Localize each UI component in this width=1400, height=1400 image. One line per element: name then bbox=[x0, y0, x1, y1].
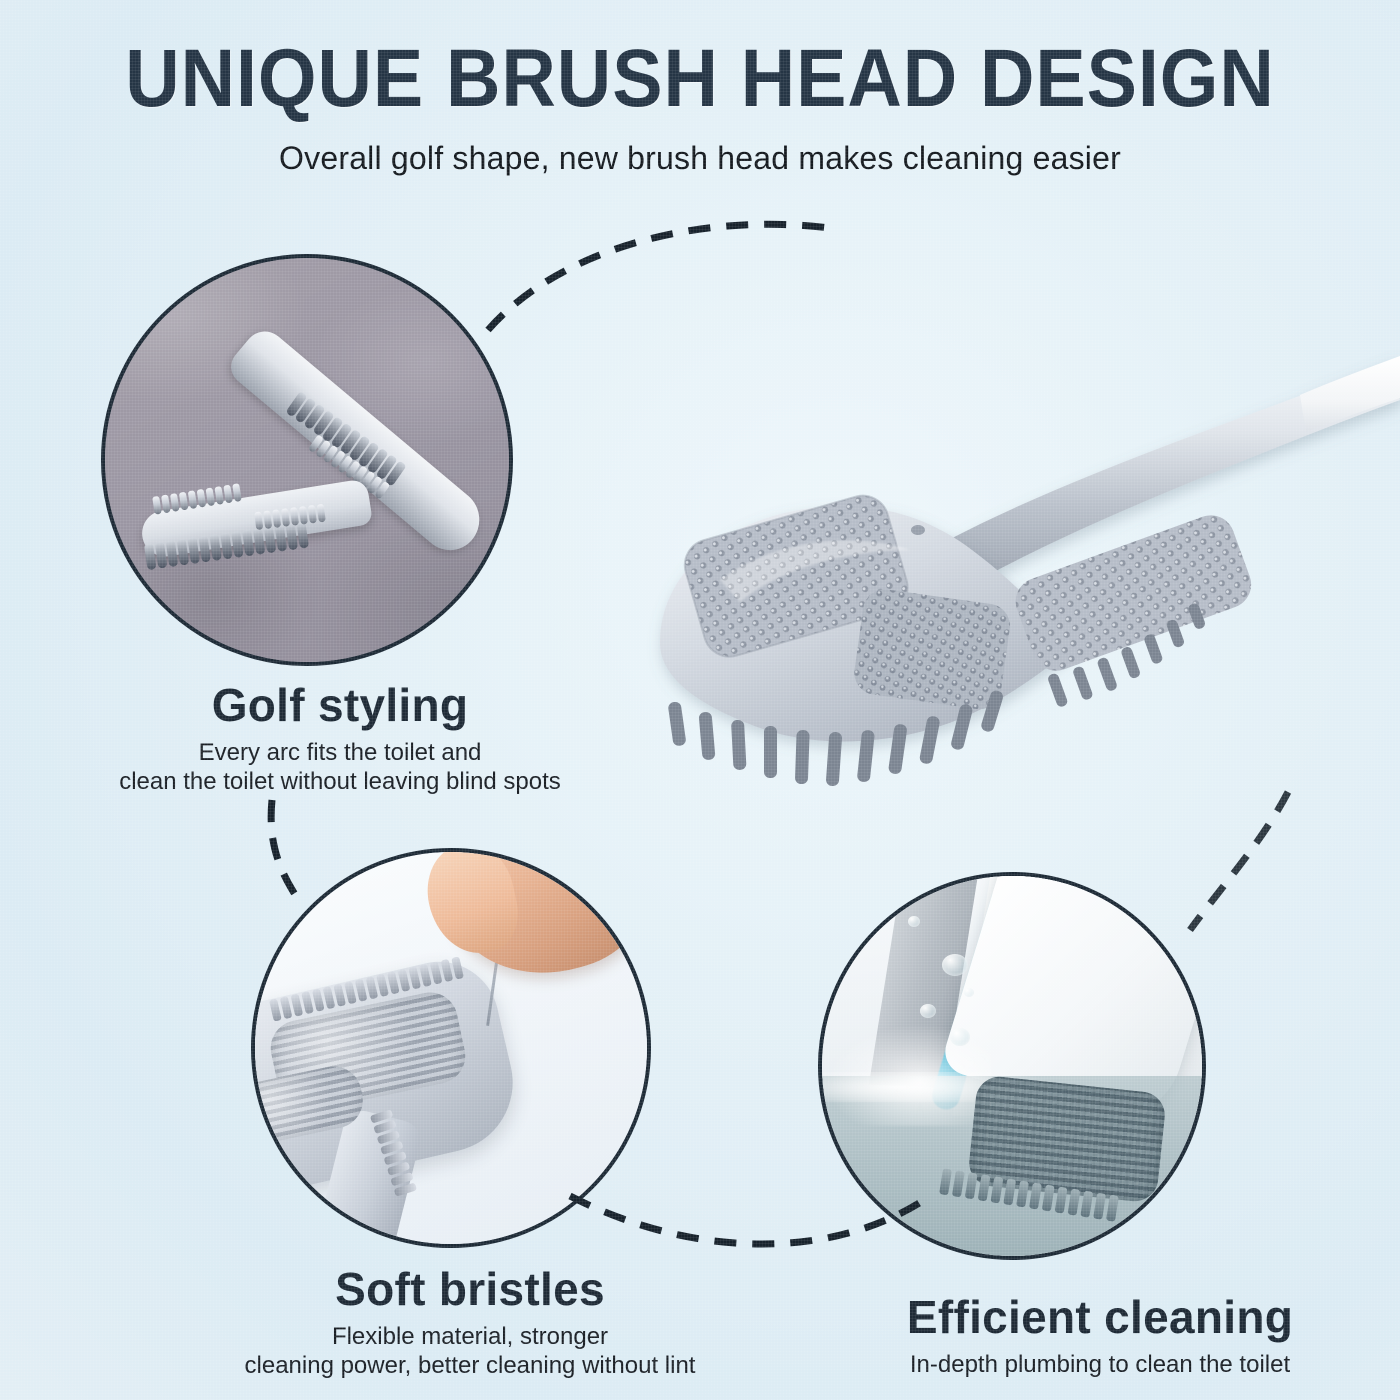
feature-heading-soft-bristles: Soft bristles bbox=[160, 1262, 780, 1316]
hero-product-image bbox=[600, 250, 1400, 830]
water-droplet-2 bbox=[920, 1004, 936, 1018]
caption-line-2: clean the toilet without leaving blind s… bbox=[119, 768, 561, 795]
caption-line-2: cleaning power, better cleaning without … bbox=[245, 1352, 696, 1379]
water-droplet-5 bbox=[964, 988, 974, 997]
infographic-canvas: UNIQUE BRUSH HEAD DESIGN Overall golf sh… bbox=[0, 0, 1400, 1400]
feature-text-soft-bristles: Flexible material, stronger cleaning pow… bbox=[160, 1322, 780, 1381]
caption-line-1: Flexible material, stronger bbox=[332, 1323, 608, 1350]
grey-backdrop bbox=[101, 254, 513, 666]
bristle-patch-middle bbox=[851, 587, 1012, 713]
page-title: UNIQUE BRUSH HEAD DESIGN bbox=[56, 0, 1344, 120]
feature-heading-golf-styling: Golf styling bbox=[30, 678, 650, 732]
feature-caption-golf-styling: Golf styling Every arc fits the toilet a… bbox=[30, 678, 650, 797]
caption-line-1: Every arc fits the toilet and bbox=[199, 739, 482, 766]
water-droplet-3 bbox=[950, 1028, 970, 1046]
feature-text-efficient-cleaning: In-depth plumbing to clean the toilet bbox=[790, 1350, 1400, 1379]
header: UNIQUE BRUSH HEAD DESIGN Overall golf sh… bbox=[0, 0, 1400, 177]
hang-hole bbox=[911, 525, 925, 535]
water-droplet-4 bbox=[908, 916, 920, 927]
feature-caption-soft-bristles: Soft bristles Flexible material, stronge… bbox=[160, 1262, 780, 1381]
water-droplet-1 bbox=[942, 954, 968, 976]
feature-caption-efficient-cleaning: Efficient cleaning In-depth plumbing to … bbox=[790, 1290, 1400, 1379]
feature-image-efficient-cleaning bbox=[818, 872, 1206, 1260]
feature-heading-efficient-cleaning: Efficient cleaning bbox=[790, 1290, 1400, 1344]
page-subtitle: Overall golf shape, new brush head makes… bbox=[0, 120, 1400, 177]
feature-text-golf-styling: Every arc fits the toilet and clean the … bbox=[30, 738, 650, 797]
brush-illustration bbox=[600, 250, 1400, 830]
feature-image-soft-bristles bbox=[251, 848, 651, 1248]
feature-image-golf-styling bbox=[101, 254, 513, 666]
caption-line-1: In-depth plumbing to clean the toilet bbox=[910, 1351, 1290, 1378]
